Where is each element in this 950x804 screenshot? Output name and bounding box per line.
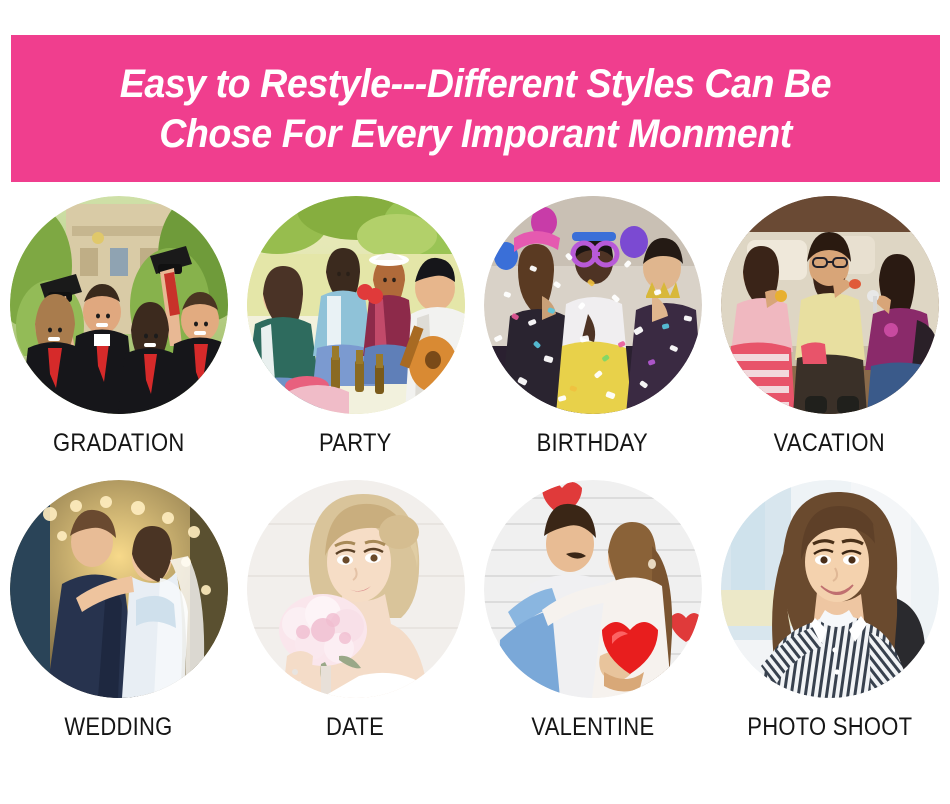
gallery-row: GRADATION — [0, 196, 950, 458]
party-photo — [247, 196, 465, 414]
headline-banner: Easy to Restyle---Different Styles Can B… — [11, 35, 940, 182]
gallery-item-date[interactable]: DATE — [237, 480, 474, 742]
birthday-photo — [484, 196, 702, 414]
gallery-item-vacation[interactable]: VACATION — [711, 196, 948, 458]
gallery-item-label: GRADATION — [53, 428, 185, 458]
gallery-item-label: DATE — [326, 712, 384, 742]
graduation-photo — [10, 196, 228, 414]
gallery-item-label: PARTY — [319, 428, 392, 458]
wedding-photo — [10, 480, 228, 698]
occasion-gallery: GRADATION — [0, 196, 950, 742]
gallery-item-label: PHOTO SHOOT — [747, 712, 912, 742]
photo-shoot-photo — [721, 480, 939, 698]
gallery-item-label: BIRTHDAY — [537, 428, 648, 458]
gallery-item-photo-shoot[interactable]: PHOTO SHOOT — [711, 480, 948, 742]
gallery-item-valentine[interactable]: VALENTINE — [474, 480, 711, 742]
valentine-photo — [484, 480, 702, 698]
headline-line-2: Chose For Every Imporant Monment — [159, 109, 792, 159]
gallery-item-gradation[interactable]: GRADATION — [0, 196, 237, 458]
date-photo — [247, 480, 465, 698]
gallery-item-party[interactable]: PARTY — [237, 196, 474, 458]
gallery-item-label: VACATION — [774, 428, 885, 458]
gallery-item-label: VALENTINE — [531, 712, 654, 742]
gallery-item-label: WEDDING — [64, 712, 172, 742]
gallery-row: WEDDING — [0, 480, 950, 742]
headline-line-1: Easy to Restyle---Different Styles Can B… — [120, 59, 831, 109]
gallery-item-birthday[interactable]: BIRTHDAY — [474, 196, 711, 458]
gallery-item-wedding[interactable]: WEDDING — [0, 480, 237, 742]
vacation-photo — [721, 196, 939, 414]
